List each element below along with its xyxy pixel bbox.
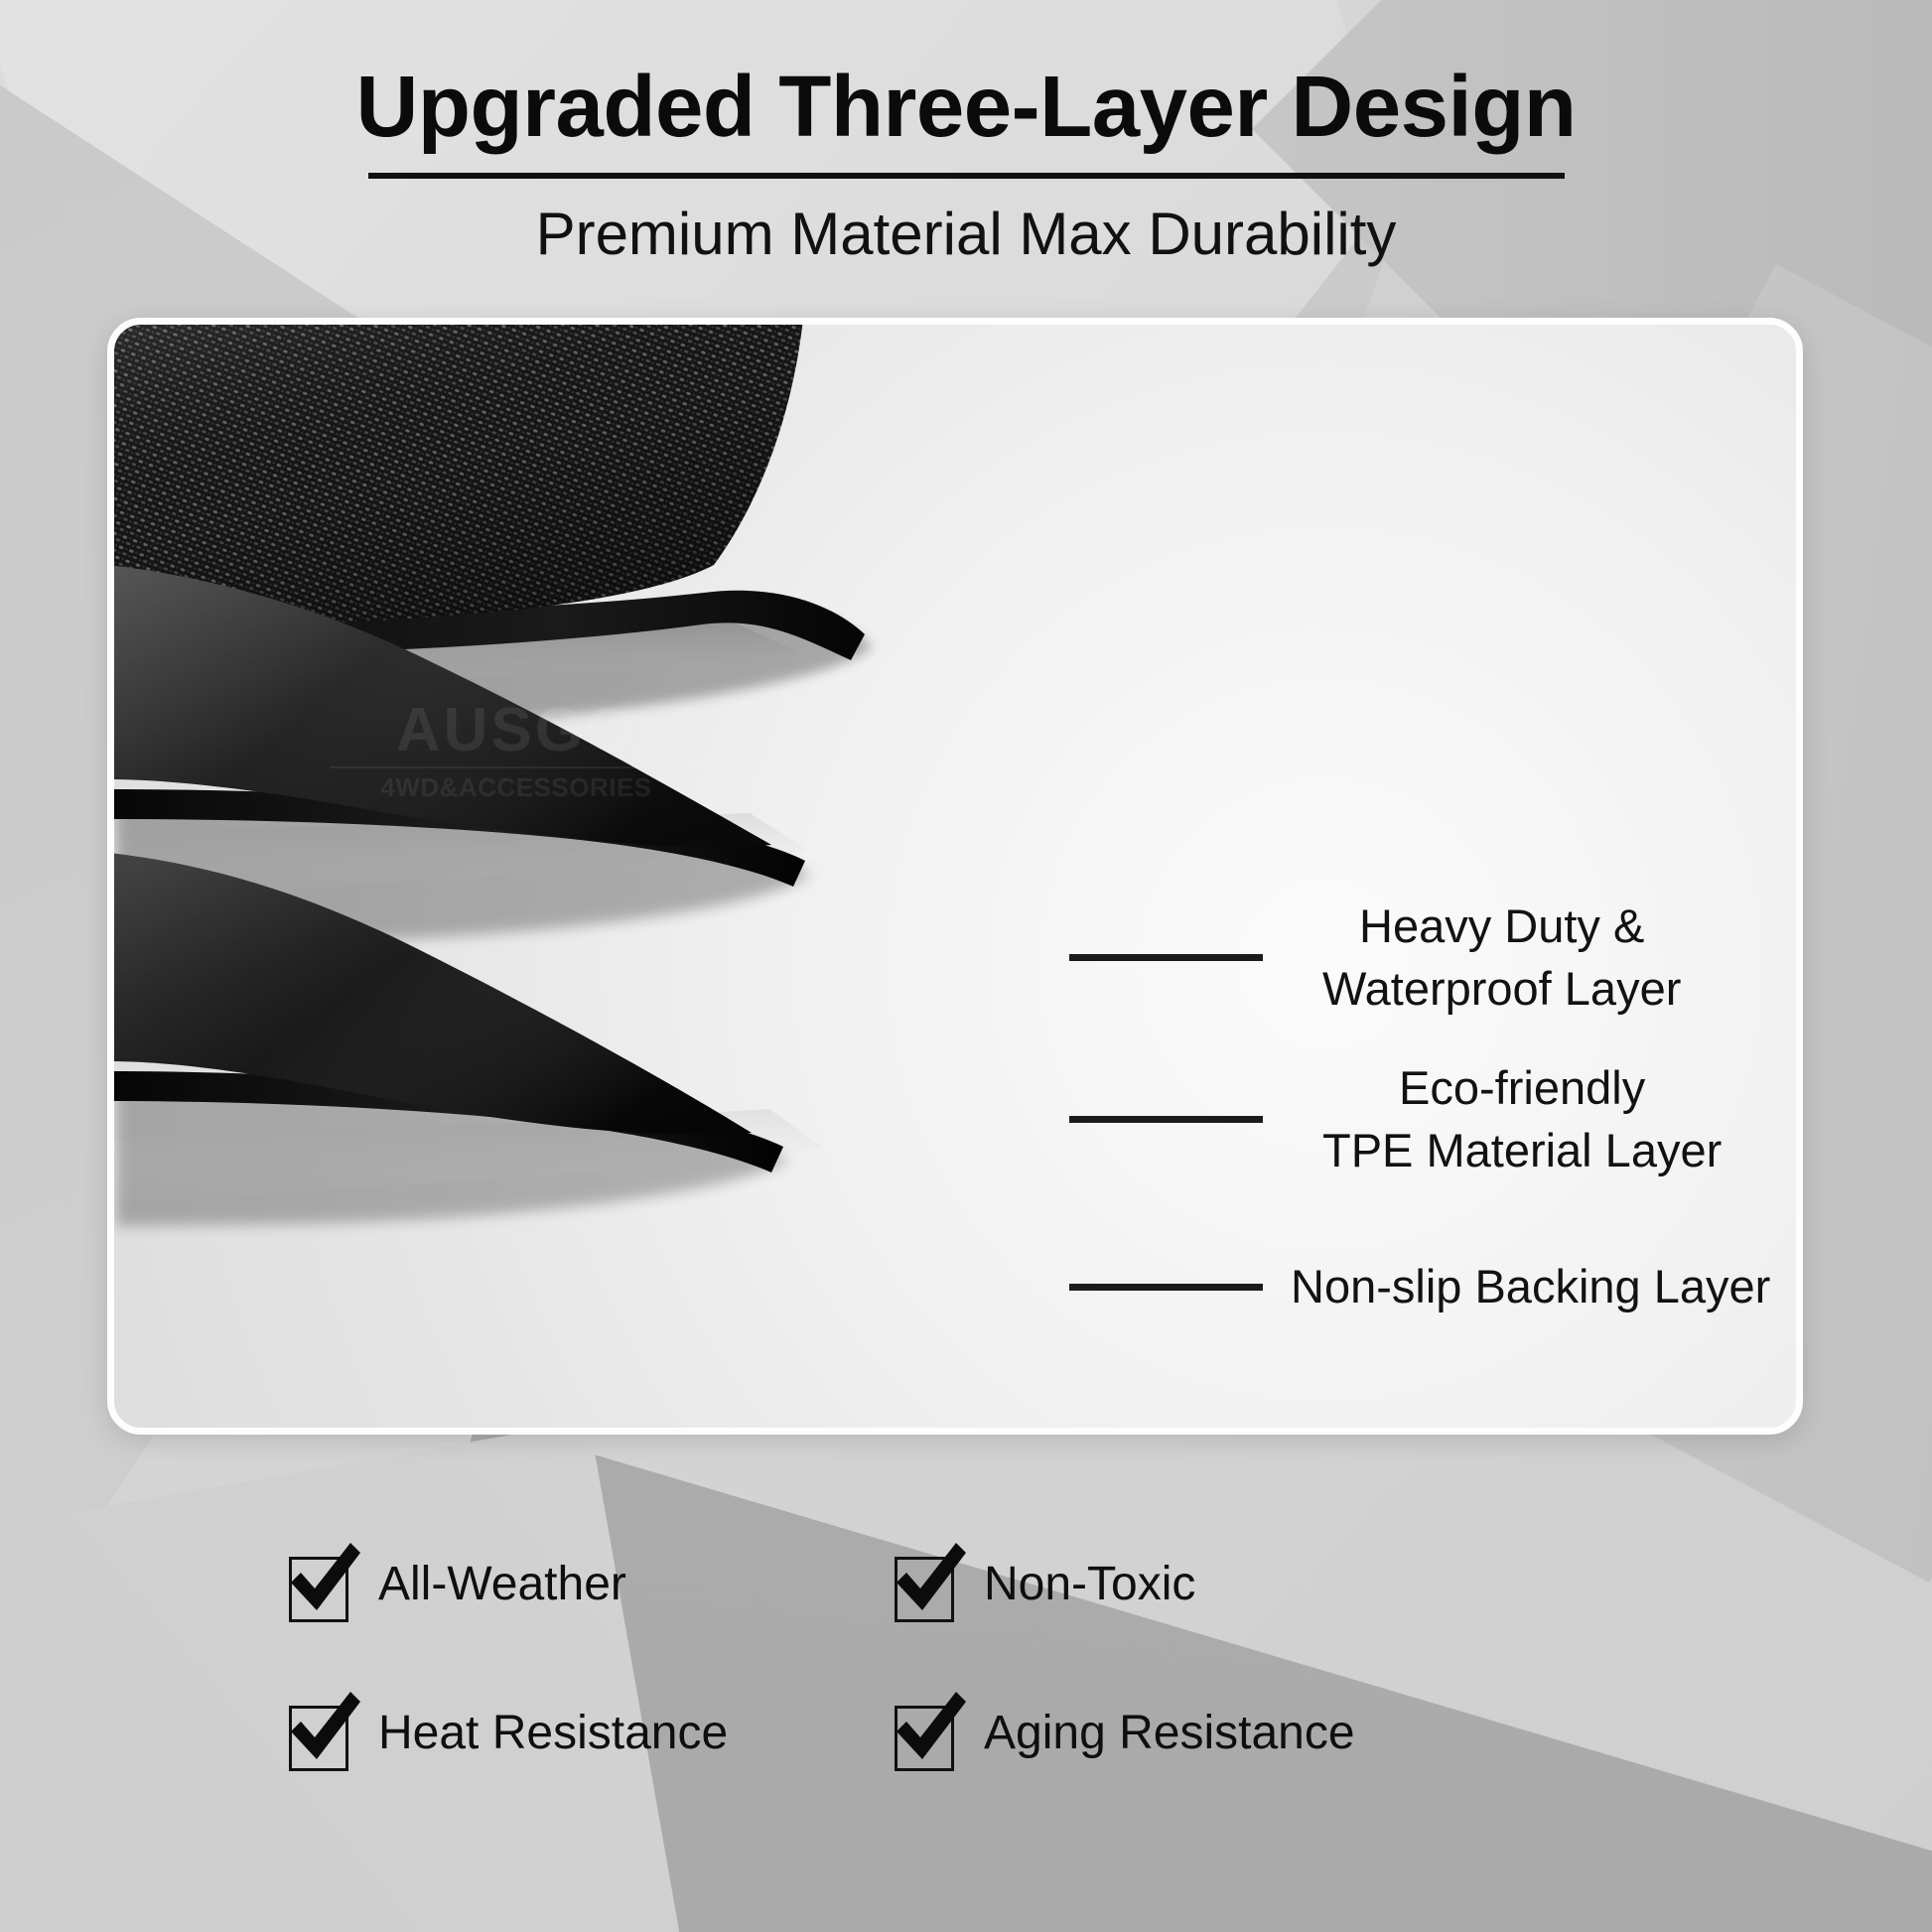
feature-item-heat-resistance: Heat Resistance: [283, 1698, 889, 1769]
product-image-card: AUSGO 4WD&ACCESSORIES Heavy Duty & Water…: [107, 318, 1803, 1435]
product-infographic: Upgraded Three-Layer Design Premium Mate…: [0, 0, 1932, 1932]
feature-checklist: All-Weather Non-Toxic Heat Resistance Ag…: [283, 1549, 1593, 1769]
page-title: Upgraded Three-Layer Design: [0, 64, 1932, 150]
callout-backing-layer: Non-slip Backing Layer: [1069, 1256, 1770, 1318]
callout-label-line2: Waterproof Layer: [1322, 958, 1681, 1021]
feature-item-non-toxic: Non-Toxic: [889, 1549, 1593, 1620]
callout-label-line1: Non-slip Backing Layer: [1291, 1256, 1770, 1318]
callout-leader-line: [1069, 1284, 1263, 1291]
checkbox-checked-icon: [889, 1698, 960, 1769]
callout-label: Non-slip Backing Layer: [1291, 1256, 1770, 1318]
page-subtitle: Premium Material Max Durability: [0, 205, 1932, 264]
feature-label: All-Weather: [378, 1561, 626, 1608]
callout-leader-line: [1069, 954, 1263, 961]
callout-label: Eco-friendly TPE Material Layer: [1322, 1057, 1722, 1181]
feature-label: Heat Resistance: [378, 1710, 728, 1757]
feature-item-aging-resistance: Aging Resistance: [889, 1698, 1593, 1769]
callout-label: Heavy Duty & Waterproof Layer: [1322, 896, 1681, 1020]
callout-tpe-layer: Eco-friendly TPE Material Layer: [1069, 1057, 1722, 1181]
callout-leader-line: [1069, 1116, 1263, 1123]
callout-label-line2: TPE Material Layer: [1322, 1120, 1722, 1182]
feature-label: Non-Toxic: [984, 1561, 1195, 1608]
checkbox-checked-icon: [283, 1698, 354, 1769]
card-inner: AUSGO 4WD&ACCESSORIES Heavy Duty & Water…: [114, 325, 1796, 1428]
callout-label-line1: Heavy Duty &: [1322, 896, 1681, 958]
checkbox-checked-icon: [283, 1549, 354, 1620]
feature-label: Aging Resistance: [984, 1710, 1355, 1757]
checkbox-checked-icon: [889, 1549, 960, 1620]
header: Upgraded Three-Layer Design Premium Mate…: [0, 64, 1932, 264]
callout-label-line1: Eco-friendly: [1322, 1057, 1722, 1120]
callout-waterproof-layer: Heavy Duty & Waterproof Layer: [1069, 896, 1681, 1020]
feature-item-all-weather: All-Weather: [283, 1549, 889, 1620]
mat-layer-backing: [108, 791, 893, 1248]
title-divider: [368, 173, 1565, 179]
